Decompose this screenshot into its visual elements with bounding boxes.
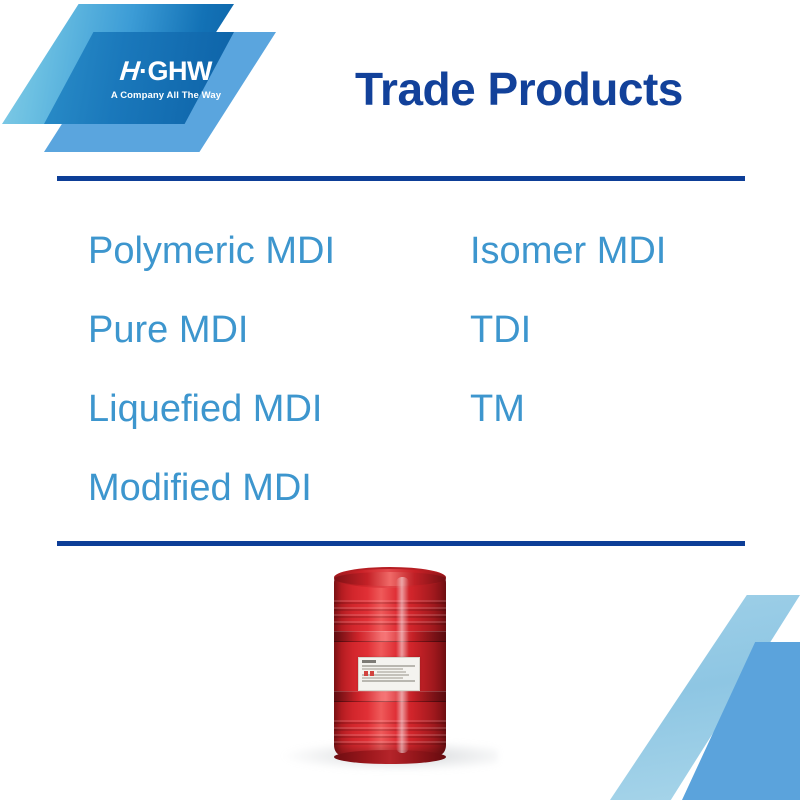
product-item-tm[interactable]: TM [470,370,708,449]
drum-graphic [334,565,446,761]
drum-hoop-lower [334,691,446,702]
drum-label-line [362,668,403,670]
drum-label-line [362,665,415,667]
drum-label-line [362,680,415,682]
drum-ribs-upper [334,597,446,625]
drum-hoop-upper [334,631,446,642]
product-item-modified-mdi[interactable]: Modified MDI [88,449,470,528]
drum-label-hazard-pictogram [364,671,368,676]
drum-rim [334,572,446,586]
drum-ribs-lower [334,717,446,745]
company-logo[interactable]: H·GHW A Company All The Way [0,0,300,160]
product-column-left: Polymeric MDI Pure MDI Liquefied MDI Mod… [88,212,470,528]
drum-product-label [358,657,420,691]
product-list: Polymeric MDI Pure MDI Liquefied MDI Mod… [88,212,708,528]
product-item-pure-mdi[interactable]: Pure MDI [88,291,470,370]
product-photo-drum [275,545,525,800]
product-banner-page: H·GHW A Company All The Way Trade Produc… [0,0,800,800]
drum-label-line [377,671,406,673]
page-title: Trade Products [355,62,683,116]
drum-base [334,750,446,764]
product-item-isomer-mdi[interactable]: Isomer MDI [470,212,708,291]
product-item-polymeric-mdi[interactable]: Polymeric MDI [88,212,470,291]
drum-label-hazard-pictogram [370,671,374,676]
product-item-liquefied-mdi[interactable]: Liquefied MDI [88,370,470,449]
product-item-tdi[interactable]: TDI [470,291,708,370]
divider-top [57,176,745,181]
drum-label-brand-block [362,660,376,663]
drum-label-line [362,677,403,679]
product-column-right: Isomer MDI TDI TM [470,212,708,528]
